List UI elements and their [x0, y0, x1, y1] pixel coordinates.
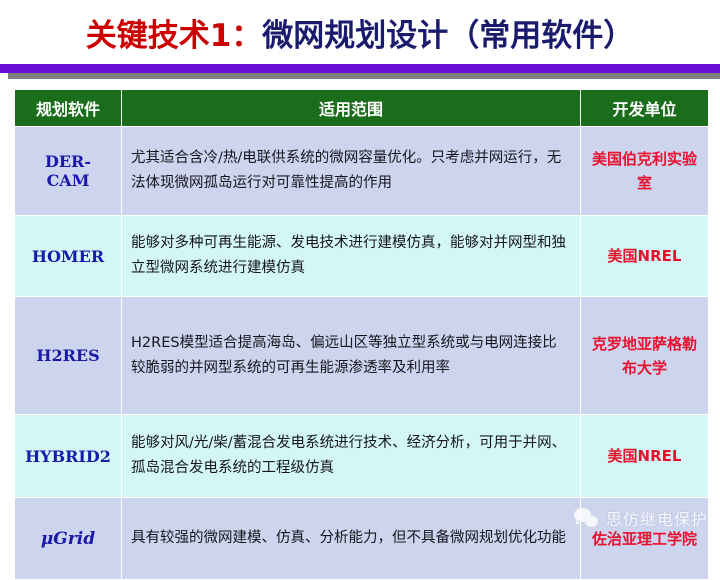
title-divider-shadow	[8, 73, 720, 79]
cell-scope: 能够对多种可再生能源、发电技术进行建模仿真，能够对并网型和独立型微网系统进行建模…	[122, 216, 581, 297]
page-title-prefix: 关键技术1：	[86, 18, 263, 54]
software-comparison-table: 规划软件 适用范围 开发单位 DER-CAM 尤其适合含冷/热/电联供系统的微网…	[14, 89, 709, 580]
table-row: HOMER 能够对多种可再生能源、发电技术进行建模仿真，能够对并网型和独立型微网…	[15, 216, 709, 297]
cell-scope: 能够对风/光/柴/蓄混合发电系统进行技术、经济分析，可用于并网、孤岛混合发电系统…	[122, 415, 581, 498]
table-row: H2RES H2RES模型适合提高海岛、偏远山区等独立型系统或与电网连接比较脆弱…	[15, 297, 709, 415]
cell-developer: 美国伯克利实验室	[581, 127, 709, 216]
column-header-scope: 适用范围	[122, 90, 581, 127]
cell-scope: 具有较强的微网建模、仿真、分析能力，但不具备微网规划优化功能	[122, 498, 581, 580]
cell-developer: 美国NREL	[581, 415, 709, 498]
cell-software-name: DER-CAM	[15, 127, 122, 216]
title-divider	[0, 64, 720, 80]
cell-developer: 佐治亚理工学院	[581, 498, 709, 580]
cell-developer: 克罗地亚萨格勒布大学	[581, 297, 709, 415]
column-header-developer: 开发单位	[581, 90, 709, 127]
cell-scope: 尤其适合含冷/热/电联供系统的微网容量优化。只考虑并网运行，无法体现微网孤岛运行…	[122, 127, 581, 216]
cell-software-name: μGrid	[15, 498, 122, 580]
table-header-row: 规划软件 适用范围 开发单位	[15, 90, 709, 127]
table-row: μGrid 具有较强的微网建模、仿真、分析能力，但不具备微网规划优化功能 佐治亚…	[15, 498, 709, 580]
column-header-software: 规划软件	[15, 90, 122, 127]
cell-software-name: HOMER	[15, 216, 122, 297]
cell-scope: H2RES模型适合提高海岛、偏远山区等独立型系统或与电网连接比较脆弱的并网型系统…	[122, 297, 581, 415]
cell-software-name: HYBRID2	[15, 415, 122, 498]
page-title-main: 微网规划设计（常用软件）	[262, 18, 634, 54]
page-title: 关键技术1：微网规划设计（常用软件）	[0, 12, 720, 60]
cell-developer: 美国NREL	[581, 216, 709, 297]
title-divider-bar	[0, 64, 720, 73]
table-row: DER-CAM 尤其适合含冷/热/电联供系统的微网容量优化。只考虑并网运行，无法…	[15, 127, 709, 216]
cell-software-name: H2RES	[15, 297, 122, 415]
table-row: HYBRID2 能够对风/光/柴/蓄混合发电系统进行技术、经济分析，可用于并网、…	[15, 415, 709, 498]
